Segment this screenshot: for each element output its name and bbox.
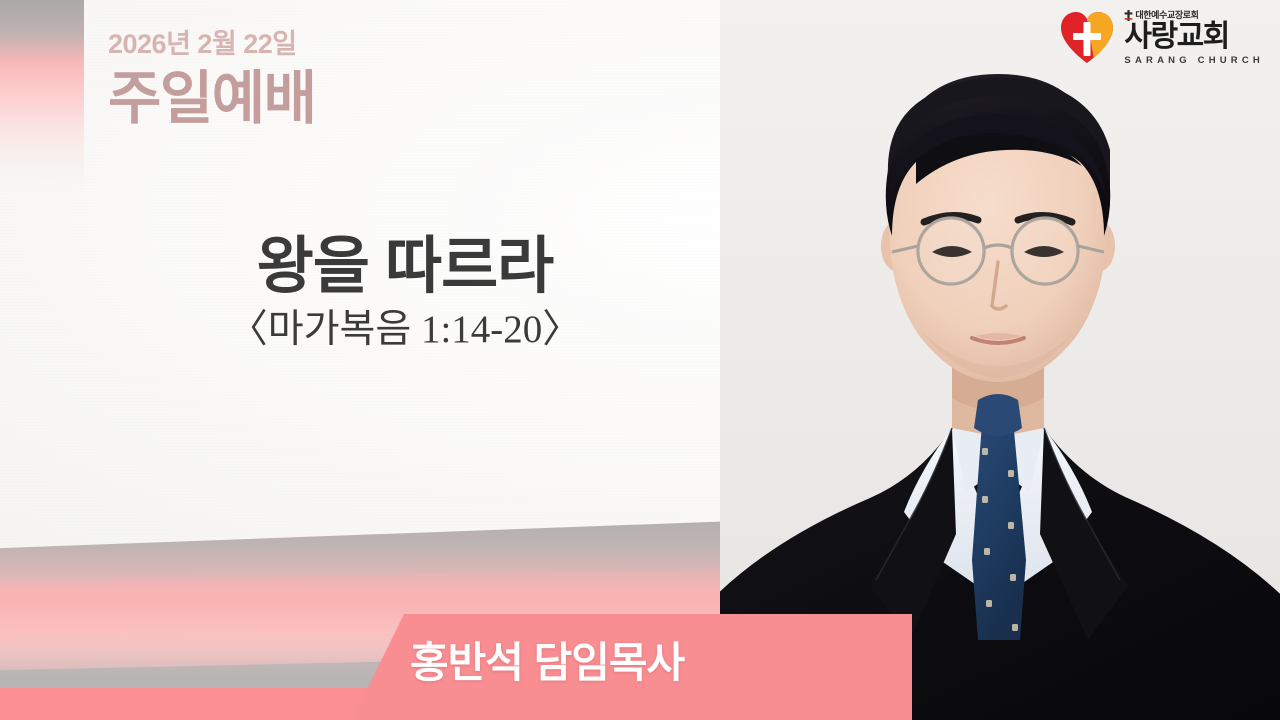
sermon-title: 왕을 따르라 [0, 232, 810, 301]
sermon-title-card: 2026년 2월 22일 주일예배 왕을 따르라 〈마가복음 1:14-20〉 [0, 0, 1280, 720]
church-logo[interactable]: 대한예수교장로회 사랑교회 SARANG CHURCH [1056, 6, 1264, 68]
service-date: 2026년 2월 22일 [108, 30, 315, 60]
corner-gradient-fade [0, 168, 84, 192]
service-type-title: 주일예배 [108, 69, 315, 130]
church-name: 사랑교회 [1124, 22, 1264, 53]
scripture-reference: 〈마가복음 1:14-20〉 [0, 307, 810, 354]
church-name-romanized: SARANG CHURCH [1124, 56, 1264, 66]
heart-cross-logo-icon [1056, 6, 1118, 68]
corner-gradient-panel [0, 0, 84, 176]
speaker-name-label: 홍반석 담임목사 [410, 629, 684, 690]
sermon-block: 왕을 따르라 〈마가복음 1:14-20〉 [0, 232, 810, 354]
pastor-portrait [720, 0, 1280, 720]
header-block: 2026년 2월 22일 주일예배 [108, 30, 315, 130]
denomination-label: 대한예수교장로회 [1135, 11, 1198, 20]
logo-text-block: 대한예수교장로회 사랑교회 SARANG CHURCH [1124, 6, 1264, 65]
